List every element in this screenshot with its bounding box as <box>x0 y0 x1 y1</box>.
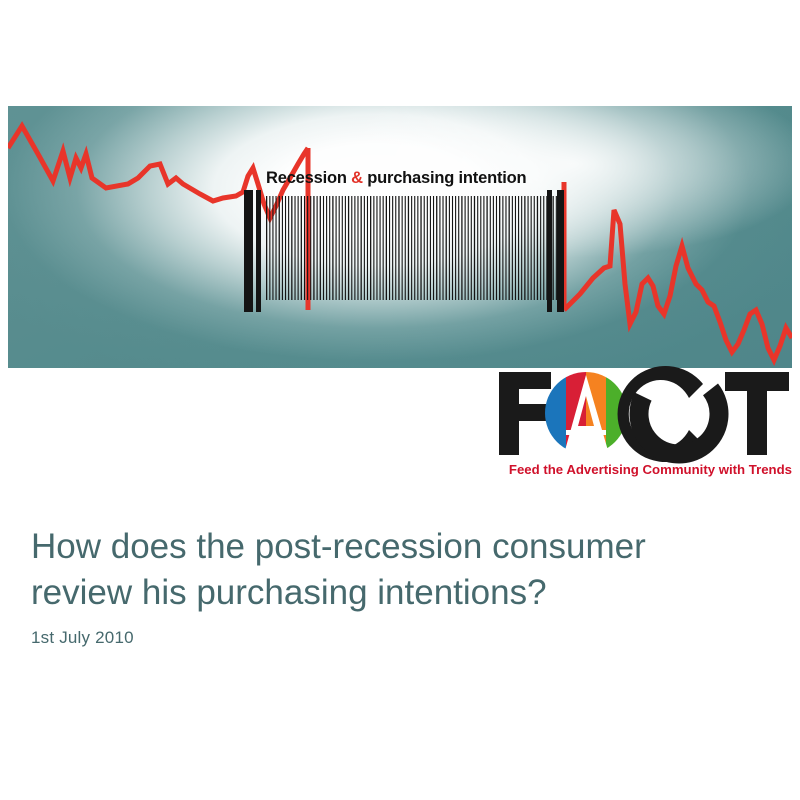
barcode-bar <box>549 196 550 300</box>
page-title: How does the post-recession consumer rev… <box>31 524 761 616</box>
barcode-bar <box>298 196 299 300</box>
barcode-bar <box>354 196 355 300</box>
barcode-bar <box>301 196 302 300</box>
barcode-bar <box>455 196 456 300</box>
barcode-bar <box>398 196 399 300</box>
barcode-bar <box>518 196 519 300</box>
slide-canvas: Recession & purchasing intention <box>0 0 800 800</box>
barcode-bar <box>562 196 563 300</box>
barcode-bar <box>442 196 443 300</box>
barcode-bar <box>348 196 349 300</box>
barcode-bar <box>307 196 308 300</box>
barcode-bar <box>458 196 459 300</box>
barcode-bar <box>509 196 510 300</box>
barcode-bar <box>465 196 466 300</box>
barcode-bar <box>414 196 415 300</box>
barcode-bar <box>370 196 371 300</box>
barcode-bar <box>285 196 286 300</box>
barcode-bar <box>279 196 280 300</box>
barcode-bar <box>342 196 343 300</box>
barcode-bar <box>524 196 525 300</box>
barcode-bar <box>505 196 506 300</box>
barcode-guard-bar <box>244 190 253 312</box>
barcode-bar <box>480 196 481 300</box>
fact-logo-graphic: Feed the Advertising Community with Tren… <box>493 366 793 478</box>
banner-image: Recession & purchasing intention <box>8 106 792 368</box>
barcode-bar <box>364 196 365 300</box>
barcode-bar <box>411 196 412 300</box>
barcode-title-prefix: Recession <box>266 169 351 187</box>
barcode-bar <box>490 196 491 300</box>
barcode-bar <box>361 196 362 300</box>
barcode-bar <box>534 196 535 300</box>
barcode-bar <box>282 196 283 300</box>
barcode-bar <box>386 196 387 300</box>
barcode-bar <box>317 196 318 300</box>
barcode-bar <box>389 196 390 300</box>
barcode-bar <box>320 196 321 300</box>
barcode-title-ampersand: & <box>351 169 363 187</box>
barcode-bar <box>291 196 292 300</box>
barcode-bar <box>471 196 472 300</box>
barcode-bar <box>326 196 327 300</box>
barcode-bar <box>427 196 428 300</box>
barcode-bar <box>521 196 522 300</box>
barcode-bar <box>502 196 503 300</box>
barcode-bars <box>244 190 564 312</box>
barcode-bar <box>329 196 330 300</box>
barcode: Recession & purchasing intention <box>244 164 564 312</box>
logo-letter-t <box>725 372 789 455</box>
logo-tagline: Feed the Advertising Community with Tren… <box>509 462 792 477</box>
barcode-bar <box>380 196 381 300</box>
barcode-bar <box>376 196 377 300</box>
presentation-date: 1st July 2010 <box>31 628 134 648</box>
barcode-bar <box>546 196 547 300</box>
barcode-bar <box>332 196 333 300</box>
barcode-bar <box>468 196 469 300</box>
barcode-bar <box>323 196 324 300</box>
barcode-bar <box>272 196 273 300</box>
barcode-bar <box>383 196 384 300</box>
barcode-guard-bar <box>256 190 261 312</box>
barcode-title-suffix: purchasing intention <box>363 169 527 187</box>
barcode-bar <box>446 196 447 300</box>
page-title-line-1: How does the post-recession consumer <box>31 527 646 566</box>
barcode-bar <box>496 196 497 300</box>
barcode-bar <box>275 196 276 300</box>
barcode-bar <box>408 196 409 300</box>
line-chart-right-series <box>564 210 792 360</box>
barcode-bar <box>269 196 270 300</box>
barcode-bar <box>420 196 421 300</box>
barcode-bar <box>556 196 557 300</box>
barcode-bar <box>339 196 340 300</box>
barcode-bar <box>528 196 529 300</box>
barcode-bar <box>436 196 437 300</box>
barcode-bar <box>294 196 295 300</box>
fact-logo: Feed the Advertising Community with Tren… <box>493 366 793 478</box>
barcode-bar <box>405 196 406 300</box>
barcode-bar <box>449 196 450 300</box>
barcode-bar <box>540 196 541 300</box>
barcode-bar <box>367 196 368 300</box>
barcode-bar <box>402 196 403 300</box>
barcode-bar <box>433 196 434 300</box>
barcode-bar <box>430 196 431 300</box>
barcode-bar <box>336 196 337 300</box>
barcode-bar <box>288 196 289 300</box>
barcode-bar <box>392 196 393 300</box>
barcode-bar <box>417 196 418 300</box>
barcode-bar <box>373 196 374 300</box>
barcode-bar <box>351 196 352 300</box>
logo-a-crossbar <box>566 430 606 435</box>
barcode-bar <box>553 196 554 300</box>
barcode-bar <box>357 196 358 300</box>
barcode-bar <box>452 196 453 300</box>
barcode-title: Recession & purchasing intention <box>266 164 548 192</box>
barcode-bar <box>559 196 560 300</box>
page-title-line-2: review his purchasing intentions? <box>31 570 761 616</box>
barcode-bar <box>266 196 267 300</box>
barcode-bar <box>499 196 500 300</box>
barcode-bar <box>537 196 538 300</box>
barcode-bar <box>424 196 425 300</box>
barcode-bar <box>310 196 311 300</box>
barcode-bar <box>395 196 396 300</box>
barcode-bar <box>486 196 487 300</box>
barcode-bar <box>483 196 484 300</box>
barcode-bar <box>515 196 516 300</box>
barcode-bar <box>461 196 462 300</box>
barcode-bar <box>439 196 440 300</box>
barcode-bar <box>531 196 532 300</box>
barcode-bar <box>304 196 305 300</box>
barcode-bar <box>512 196 513 300</box>
barcode-bar <box>474 196 475 300</box>
barcode-bar <box>345 196 346 300</box>
barcode-bar <box>477 196 478 300</box>
barcode-bar <box>313 196 314 300</box>
barcode-bar <box>493 196 494 300</box>
logo-letter-f <box>499 372 551 455</box>
barcode-bar <box>543 196 544 300</box>
